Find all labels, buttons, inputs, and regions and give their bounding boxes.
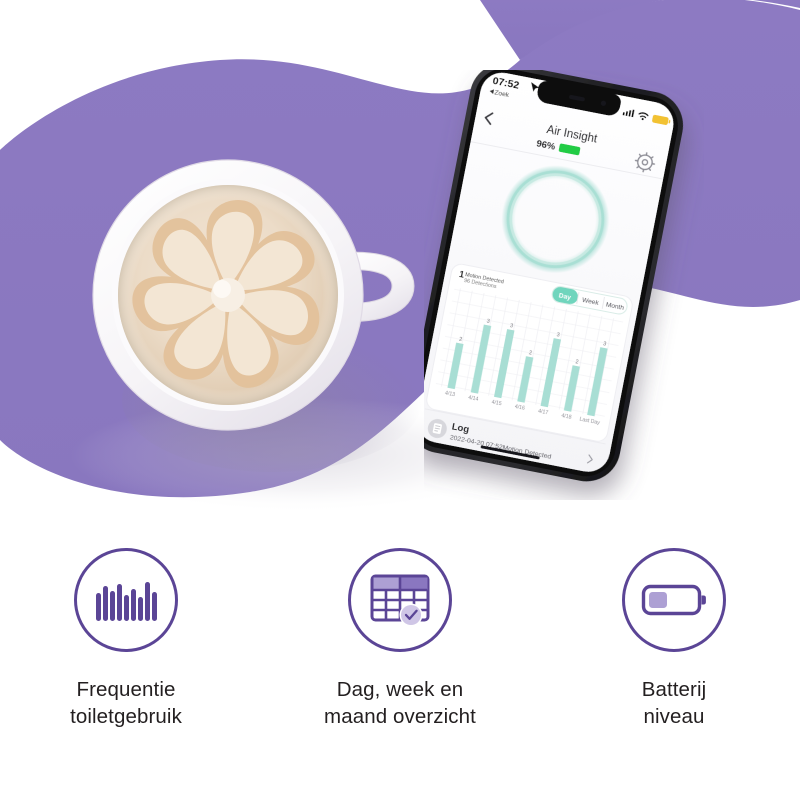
feature-row: Frequentie toiletgebruik — [0, 548, 800, 730]
phone-mockup: 07:52 Zoek — [424, 70, 704, 500]
feature-overview-circle — [348, 548, 452, 652]
battery-level-icon — [641, 581, 707, 619]
feature-battery-label: Batterij niveau — [642, 676, 707, 730]
feature-frequency: Frequentie toiletgebruik — [43, 548, 209, 730]
feature-overview: Dag, week en maand overzicht — [317, 548, 483, 730]
feature-frequency-label: Frequentie toiletgebruik — [70, 676, 182, 730]
poster-canvas: 07:52 Zoek — [0, 0, 800, 800]
feature-battery-circle — [622, 548, 726, 652]
feature-frequency-circle — [74, 548, 178, 652]
calendar-table-check-icon — [369, 572, 431, 628]
feature-battery: Batterij niveau — [591, 548, 757, 730]
feature-overview-label: Dag, week en maand overzicht — [324, 676, 476, 730]
frequency-bars-icon — [94, 576, 158, 624]
coffee-cup-photo — [62, 150, 422, 480]
